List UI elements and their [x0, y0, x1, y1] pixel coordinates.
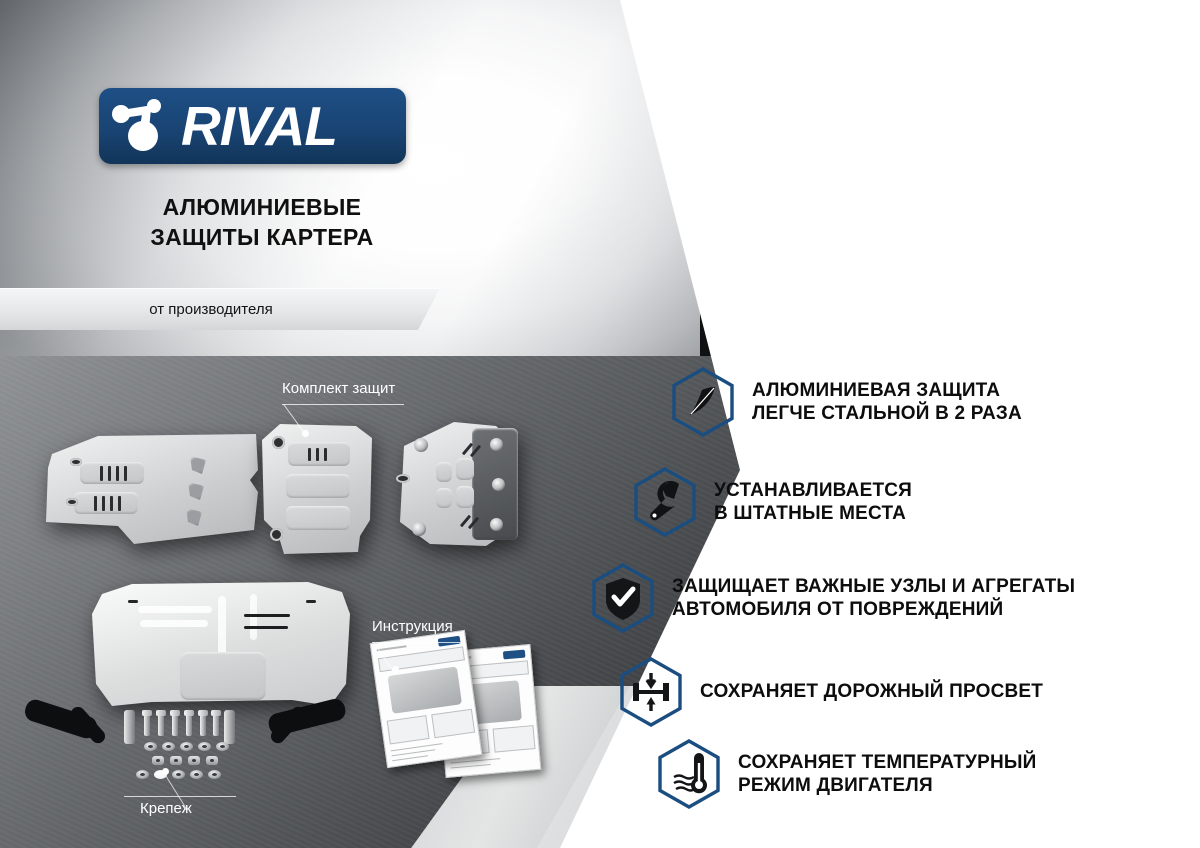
advantage-item-5: СОХРАНЯЕТ ТЕМПЕРАТУРНЫЙ РЕЖИМ ДВИГАТЕЛЯ — [656, 738, 1037, 810]
advantage-item-4: СОХРАНЯЕТ ДОРОЖНЫЙ ПРОСВЕТ — [618, 656, 1043, 728]
skid-plate-wide — [46, 434, 258, 544]
advantage-text-3: ЗАЩИЩАЕТ ВАЖНЫЕ УЗЛЫ И АГРЕГАТЫ АВТОМОБИ… — [672, 575, 1075, 621]
advantage-item-2: УСТАНАВЛИВАЕТСЯ В ШТАТНЫЕ МЕСТА — [632, 466, 912, 538]
instruction-sheet-front — [370, 630, 483, 768]
callout-kit: Комплект защит — [282, 380, 395, 397]
skid-plate-center — [260, 424, 376, 554]
advantage-text-5: СОХРАНЯЕТ ТЕМПЕРАТУРНЫЙ РЕЖИМ ДВИГАТЕЛЯ — [738, 751, 1037, 797]
callout-instruction-label: Инструкция — [372, 618, 453, 635]
callout-instruction: Инструкция — [372, 618, 453, 635]
subtitle-text: от производителя — [149, 301, 272, 318]
advantage-item-1: АЛЮМИНИЕВАЯ ЗАЩИТА ЛЕГЧЕ СТАЛЬНОЙ В 2 РА… — [670, 366, 1022, 438]
ground-clearance-icon — [618, 656, 684, 728]
logo-wordmark: RIVAL — [181, 99, 337, 154]
advantage-text-1: АЛЮМИНИЕВАЯ ЗАЩИТА ЛЕГЧЕ СТАЛЬНОЙ В 2 РА… — [752, 379, 1022, 425]
advantage-item-3: ЗАЩИЩАЕТ ВАЖНЫЕ УЗЛЫ И АГРЕГАТЫ АВТОМОБИ… — [590, 562, 1075, 634]
skid-plate-large — [92, 580, 352, 708]
molecule-icon — [107, 94, 185, 158]
advantage-text-4: СОХРАНЯЕТ ДОРОЖНЫЙ ПРОСВЕТ — [700, 680, 1043, 703]
skid-plate-angled — [390, 422, 520, 548]
rival-logo: RIVAL — [99, 88, 406, 164]
page-title: АЛЮМИНИЕВЫЕ ЗАЩИТЫ КАРТЕРА — [62, 192, 462, 253]
poster-root: RIVAL АЛЮМИНИЕВЫЕ ЗАЩИТЫ КАРТЕРА от прои… — [0, 0, 1200, 848]
subtitle-band: от производителя — [0, 288, 440, 330]
advantages-list: АЛЮМИНИЕВАЯ ЗАЩИТА ЛЕГЧЕ СТАЛЬНОЙ В 2 РА… — [608, 360, 1200, 830]
callout-kit-label: Комплект защит — [282, 380, 395, 397]
callout-fasteners-label: Крепеж — [140, 800, 192, 817]
leaf-icon — [670, 366, 736, 438]
shield-check-icon — [590, 562, 656, 634]
wrench-icon — [632, 466, 698, 538]
thermometer-icon — [656, 738, 722, 810]
advantage-text-2: УСТАНАВЛИВАЕТСЯ В ШТАТНЫЕ МЕСТА — [714, 479, 912, 525]
